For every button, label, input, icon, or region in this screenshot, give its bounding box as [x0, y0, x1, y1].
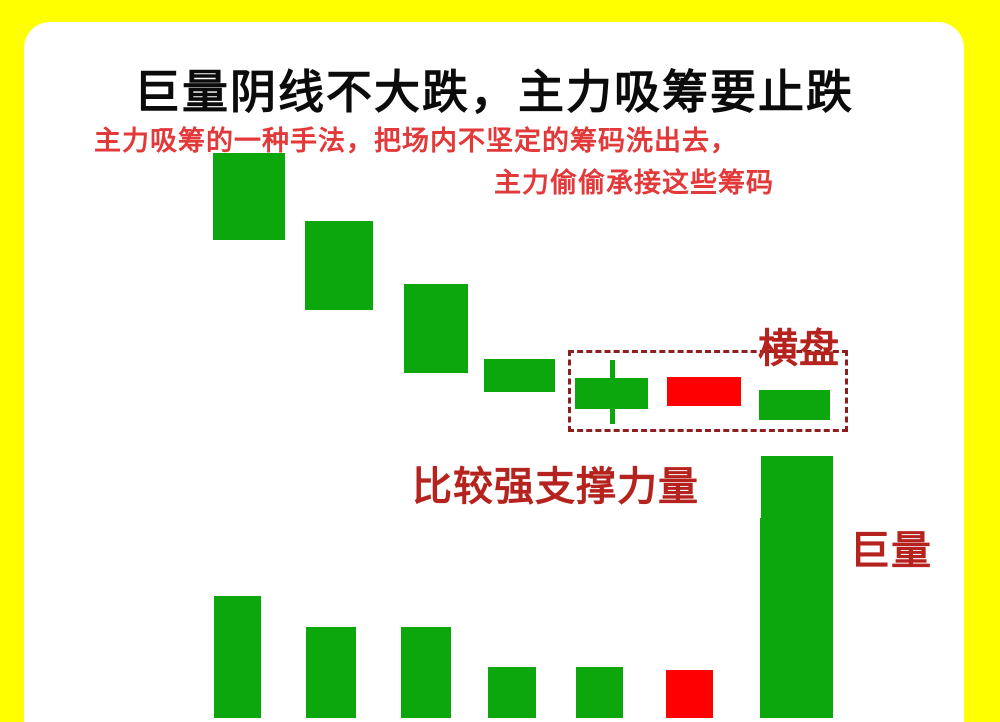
volume-bar: [576, 667, 623, 718]
annotation-support: 比较强支撑力量: [412, 454, 699, 512]
yellow-frame: 巨量阴线不大跌，主力吸筹要止跌 主力吸筹的一种手法，把场内不坚定的筹码洗出去， …: [0, 0, 1000, 696]
volume-bar: [666, 670, 713, 718]
candle-body: [484, 359, 555, 392]
volume-bar: [488, 667, 536, 718]
volume-bar: [306, 627, 356, 718]
candle-body: [305, 221, 373, 310]
annotation-consolidation: 横盘: [758, 316, 840, 374]
candle-body: [759, 390, 830, 420]
white-panel: 巨量阴线不大跌，主力吸筹要止跌 主力吸筹的一种手法，把场内不坚定的筹码洗出去， …: [24, 22, 964, 722]
candle-body: [213, 153, 285, 240]
annotation-huge-volume: 巨量: [850, 518, 932, 576]
candle-body: [667, 377, 741, 406]
volume-bar-huge: [760, 518, 807, 718]
candle-body: [404, 284, 468, 373]
volume-bar: [401, 627, 451, 718]
volume-bar: [214, 596, 261, 718]
candle-body: [575, 378, 648, 409]
